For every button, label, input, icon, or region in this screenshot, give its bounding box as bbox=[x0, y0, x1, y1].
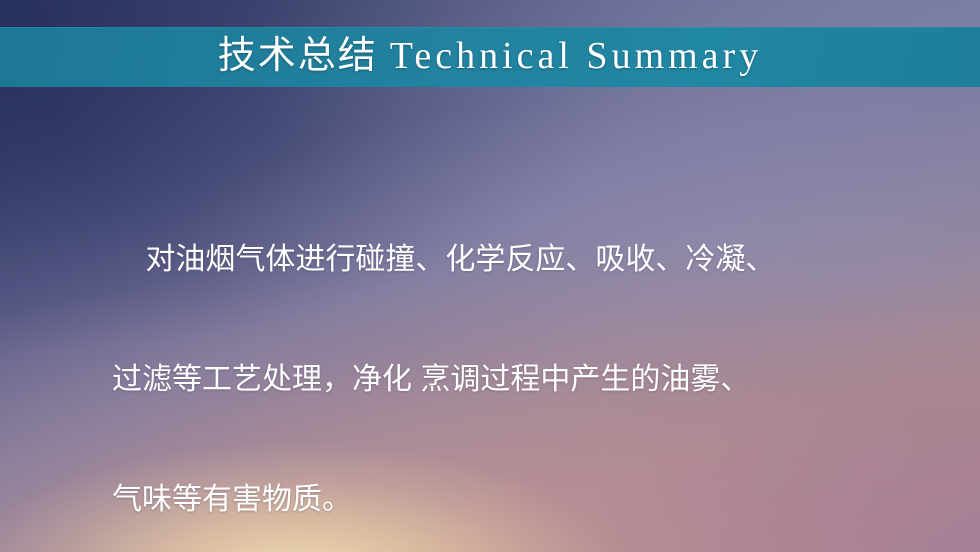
title-banner: 技术总结Technical Summary bbox=[0, 27, 980, 87]
slide-body-text: 对油烟气体进行碰撞、化学反应、吸收、冷凝、 过滤等工艺处理，净化 烹调过程中产生… bbox=[112, 160, 912, 552]
presentation-slide: 技术总结Technical Summary 对油烟气体进行碰撞、化学反应、吸收、… bbox=[0, 0, 980, 552]
slide-title: 技术总结Technical Summary bbox=[218, 37, 762, 75]
slide-title-english: Technical Summary bbox=[378, 35, 762, 77]
body-line: 对油烟气体进行碰撞、化学反应、吸收、冷凝、 bbox=[112, 240, 912, 280]
slide-title-chinese: 技术总结 bbox=[218, 35, 378, 77]
body-line: 气味等有害物质。 bbox=[112, 480, 912, 520]
body-line: 过滤等工艺处理，净化 烹调过程中产生的油雾、 bbox=[112, 360, 912, 400]
